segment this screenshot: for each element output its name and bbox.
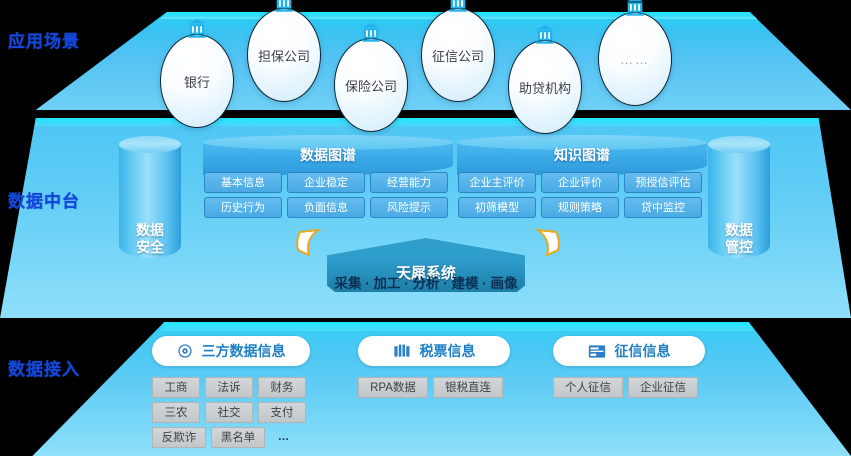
chip-litigation[interactable]: 法诉 (205, 377, 253, 398)
scenario-node-label: 助贷机构 (519, 78, 571, 97)
tile-enterprise-stability[interactable]: 企业稳定 (287, 172, 365, 193)
bot-slab-rim (0, 322, 851, 331)
tile-operating-capability[interactable]: 经营能力 (370, 172, 448, 193)
scenario-node-label: 征信公司 (432, 46, 484, 65)
tile-grid-data-graph: 基本信息 企业稳定 经营能力 历史行为 负面信息 风险提示 (204, 172, 448, 218)
graph-title: 数据图谱 (203, 145, 453, 165)
scenario-node-guarantee-company[interactable]: 担保公司 (247, 8, 321, 102)
pillar-label-line2: 管控 (708, 239, 770, 256)
tile-loan-monitoring[interactable]: 贷中监控 (624, 197, 702, 218)
scenario-node-credit-bureau[interactable]: 征信公司 (421, 8, 495, 102)
tile-grid-knowledge-graph: 企业主评价 企业评价 预授信评估 初筛模型 规则策略 贷中监控 (458, 172, 702, 218)
swoosh-arrow-right-icon (534, 228, 560, 258)
access-group-third-party-data[interactable]: 三方数据信息 (152, 336, 310, 366)
chip-rpa-data[interactable]: RPA数据 (358, 377, 428, 398)
tile-rule-strategy[interactable]: 规则策略 (541, 197, 619, 218)
tile-negative-info[interactable]: 负面信息 (287, 197, 365, 218)
pillar-label: 数据 安全 (119, 222, 181, 256)
layer-label-data-access: 数据接入 (8, 355, 80, 380)
scenario-node-bank[interactable]: 银行 (160, 34, 234, 128)
access-group-title: 三方数据信息 (202, 341, 286, 361)
top-slab-rim (0, 12, 851, 19)
tile-screening-model[interactable]: 初筛模型 (458, 197, 536, 218)
chip-business-registration[interactable]: 工商 (152, 377, 200, 398)
pillar-label-line1: 数据 (119, 222, 181, 239)
graph-title: 知识图谱 (457, 145, 707, 165)
access-group-title: 税票信息 (420, 341, 476, 361)
chip-social[interactable]: 社交 (205, 402, 253, 423)
credit-card-icon (588, 344, 606, 359)
scenario-node-label: 担保公司 (258, 46, 310, 65)
chip-payment[interactable]: 支付 (258, 402, 306, 423)
tile-enterprise-evaluation[interactable]: 企业评价 (541, 172, 619, 193)
bank-icon (360, 22, 382, 44)
scenario-node-more[interactable]: …… (598, 12, 672, 106)
layer-label-data-platform: 数据中台 (8, 187, 80, 212)
core-system-capabilities: 采集 · 加工 · 分析 · 建模 · 画像 (327, 272, 525, 292)
access-group-credit-report[interactable]: 征信信息 (553, 336, 705, 366)
tile-owner-evaluation[interactable]: 企业主评价 (458, 172, 536, 193)
chip-blacklist[interactable]: 黑名单 (211, 427, 265, 448)
chip-more[interactable]: … (270, 427, 298, 448)
swoosh-arrow-left-icon (296, 228, 322, 258)
chip-enterprise-credit[interactable]: 企业征信 (628, 377, 698, 398)
cylinder-cap (708, 136, 770, 153)
chip-list-credit-report: 个人征信 企业征信 (553, 377, 713, 398)
scenario-node-label: 保险公司 (345, 76, 397, 95)
pillar-data-governance[interactable]: 数据 管控 (708, 136, 770, 266)
tile-risk-alert[interactable]: 风险提示 (370, 197, 448, 218)
chip-finance[interactable]: 财务 (258, 377, 306, 398)
pillar-label-line1: 数据 (708, 222, 770, 239)
chip-bank-tax-direct-link[interactable]: 银税直连 (433, 377, 503, 398)
building-columns-icon (393, 343, 411, 359)
chip-list-tax-invoice: RPA数据 银税直连 (358, 377, 518, 398)
eye-target-icon (177, 343, 193, 359)
tile-historical-behavior[interactable]: 历史行为 (204, 197, 282, 218)
pillar-label-line2: 安全 (119, 239, 181, 256)
mid-slab-rim (0, 118, 851, 126)
architecture-diagram: 应用场景 数据中台 数据接入 银行 担保公司 (0, 0, 851, 456)
access-group-tax-invoice[interactable]: 税票信息 (358, 336, 510, 366)
scenario-node-insurance-company[interactable]: 保险公司 (334, 38, 408, 132)
tile-pre-credit-assessment[interactable]: 预授信评估 (624, 172, 702, 193)
bank-icon (273, 0, 295, 14)
chip-personal-credit[interactable]: 个人征信 (553, 377, 623, 398)
chip-agriculture[interactable]: 三农 (152, 402, 200, 423)
access-group-title: 征信信息 (615, 341, 671, 361)
tile-basic-info[interactable]: 基本信息 (204, 172, 282, 193)
bank-icon (186, 18, 208, 40)
pillar-label: 数据 管控 (708, 222, 770, 256)
cylinder-cap (119, 136, 181, 153)
bank-icon (447, 0, 469, 14)
layer-label-application: 应用场景 (8, 27, 80, 52)
bank-icon (534, 24, 556, 46)
chip-list-third-party-data: 工商 法诉 财务 三农 社交 支付 反欺诈 黑名单 … (152, 377, 312, 448)
scenario-node-label: 银行 (184, 72, 210, 91)
scenario-node-label: …… (620, 52, 650, 67)
chip-anti-fraud[interactable]: 反欺诈 (152, 427, 206, 448)
scenario-node-loan-facilitator[interactable]: 助贷机构 (508, 40, 582, 134)
bank-icon (624, 0, 646, 18)
pillar-data-security[interactable]: 数据 安全 (119, 136, 181, 266)
